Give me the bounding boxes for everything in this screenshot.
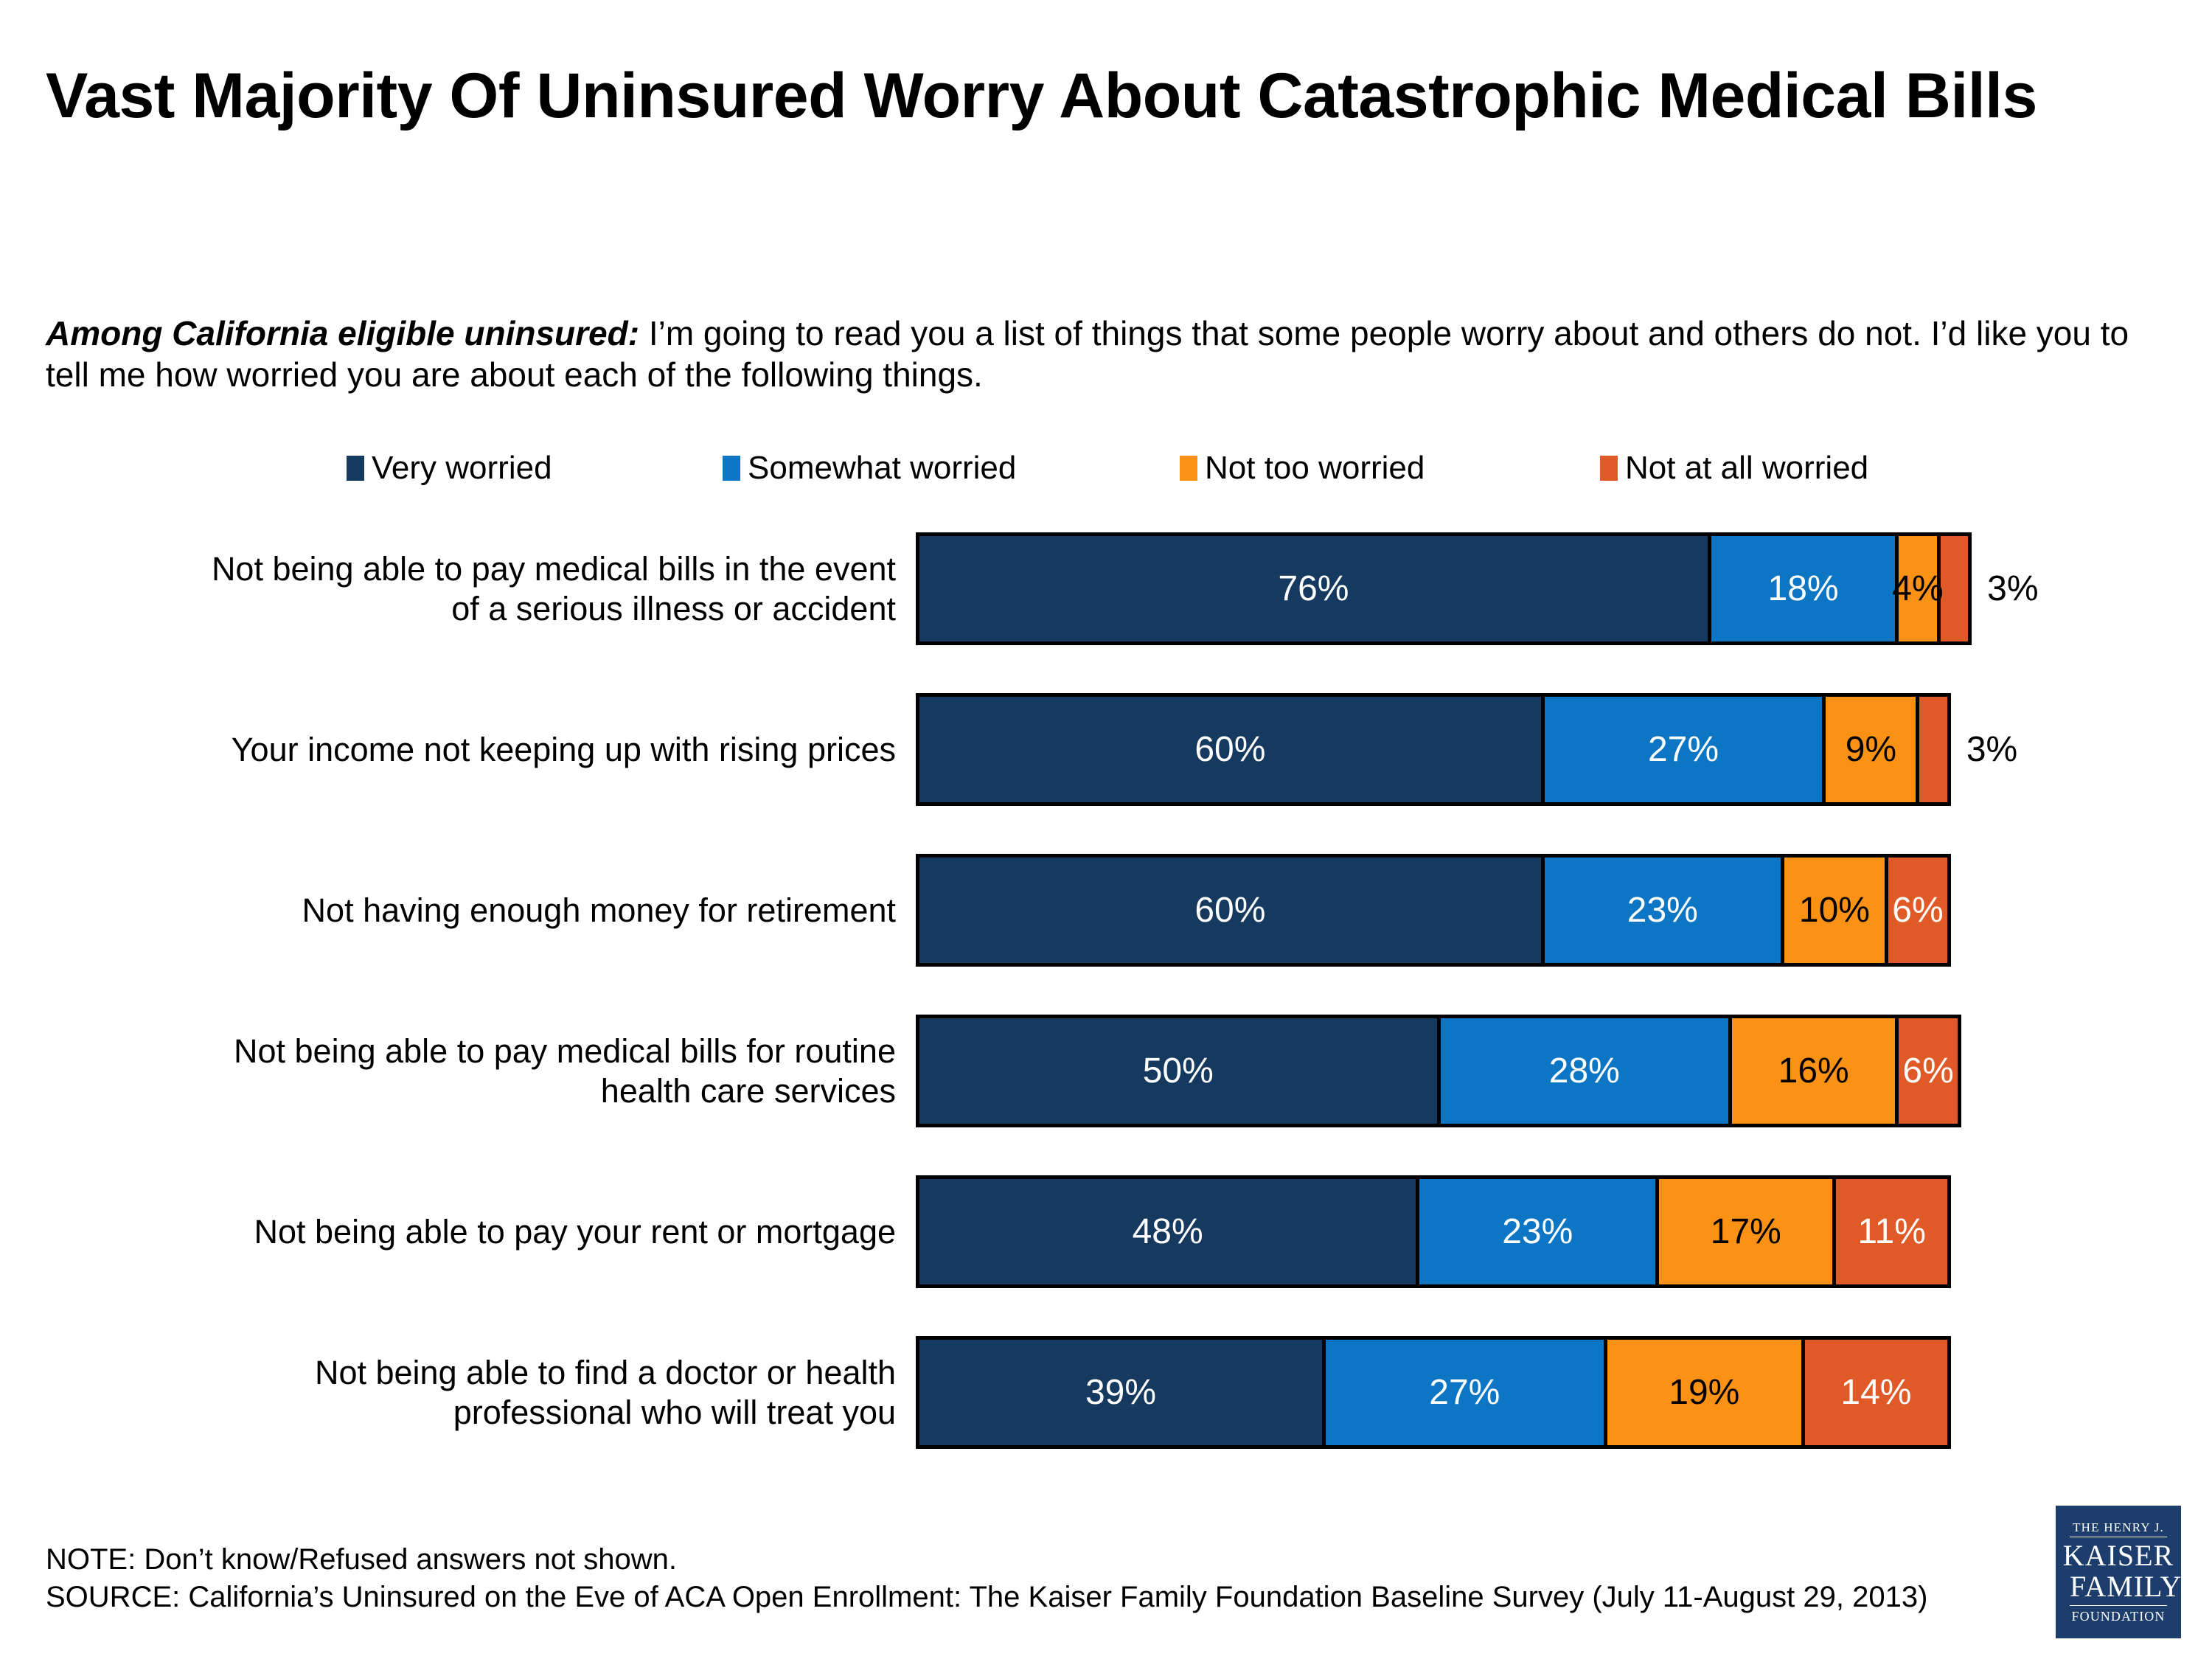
bar-row-label-line: Not being able to pay medical bills in t… (212, 549, 896, 588)
bar-row-label: Your income not keeping up with rising p… (133, 693, 896, 806)
legend-item-not-at-all-worried[interactable]: Not at all worried (1600, 446, 1868, 490)
bar-segment-not-too-worried[interactable]: 9% (1822, 693, 1919, 806)
bar-row-label: Not being able to find a doctor or healt… (133, 1336, 896, 1449)
bar-segment-not-at-all-worried[interactable]: 14% (1801, 1336, 1951, 1449)
bar-row-label: Not having enough money for retirement (133, 854, 896, 967)
bar-row-label-line: Not being able to pay medical bills for … (234, 1032, 896, 1071)
bar-row: Not being able to pay medical bills in t… (0, 532, 2212, 645)
logo-line-2: KAISER (2063, 1540, 2174, 1571)
footnote-note: NOTE: Don’t know/Refused answers not sho… (46, 1541, 2037, 1579)
bar-segment-value: 10% (1799, 893, 1870, 928)
bar-row-label-line: of a serious illness or accident (212, 589, 896, 628)
bar-segment-value: 11% (1857, 1214, 1926, 1250)
legend-item-very-worried[interactable]: Very worried (347, 446, 552, 490)
bar-row: Not being able to pay medical bills for … (0, 1015, 2212, 1127)
bar-segment-very-worried[interactable]: 76% (916, 532, 1711, 645)
bar-segment-value: 18% (1768, 571, 1839, 607)
bar-track: 76%18%4% (916, 532, 1972, 645)
bar-segment-value: 39% (1085, 1375, 1156, 1411)
bar-segment-value: 27% (1648, 732, 1719, 768)
bar-segment-not-at-all-worried[interactable] (1916, 693, 1950, 806)
legend-label: Very worried (372, 452, 552, 484)
bar-segment-not-too-worried[interactable]: 4% (1895, 532, 1941, 645)
bar-track: 48%23%17%11% (916, 1175, 1951, 1288)
bar-row-label-line: Not being able to pay your rent or mortg… (254, 1212, 896, 1251)
stacked-bar-chart: Not being able to pay medical bills in t… (0, 532, 2212, 1506)
footnotes: NOTE: Don’t know/Refused answers not sho… (46, 1541, 2037, 1616)
bar-segment-very-worried[interactable]: 60% (916, 854, 1545, 967)
bar-row: Your income not keeping up with rising p… (0, 693, 2212, 806)
bar-segment-value: 27% (1429, 1375, 1500, 1411)
bar-segment-value: 60% (1194, 893, 1265, 928)
legend-swatch-icon (723, 456, 740, 481)
bar-segment-very-worried[interactable]: 48% (916, 1175, 1419, 1288)
slide-canvas: Vast Majority Of Uninsured Worry About C… (0, 0, 2212, 1659)
chart-legend: Very worried Somewhat worried Not too wo… (347, 446, 1969, 490)
logo-line-1: THE HENRY J. (2070, 1521, 2167, 1537)
bar-segment-value: 9% (1846, 732, 1896, 768)
footnote-source: SOURCE: California’s Uninsured on the Ev… (46, 1579, 2037, 1616)
bar-segment-value: 23% (1502, 1214, 1573, 1250)
legend-item-not-too-worried[interactable]: Not too worried (1180, 446, 1425, 490)
bar-segment-somewhat-worried[interactable]: 23% (1541, 854, 1784, 967)
bar-segment-somewhat-worried[interactable]: 23% (1416, 1175, 1659, 1288)
bar-segment-not-too-worried[interactable]: 10% (1781, 854, 1888, 967)
bar-segment-value: 17% (1711, 1214, 1781, 1250)
bar-segment-value: 50% (1143, 1054, 1214, 1089)
bar-row-label: Not being able to pay your rent or mortg… (133, 1175, 896, 1288)
bar-segment-not-at-all-worried[interactable]: 6% (1895, 1015, 1961, 1127)
bar-segment-value: 14% (1840, 1375, 1911, 1411)
bar-segment-not-too-worried[interactable]: 16% (1728, 1015, 1899, 1127)
bar-track: 50%28%16%6% (916, 1015, 1961, 1127)
bar-row: Not being able to pay your rent or mortg… (0, 1175, 2212, 1288)
bar-segment-value: 76% (1278, 571, 1349, 607)
bar-row-label-line: Not being able to find a doctor or healt… (315, 1353, 896, 1392)
bar-segment-value: 19% (1669, 1375, 1739, 1411)
bar-row-label-line: professional who will treat you (315, 1393, 896, 1432)
bar-segment-somewhat-worried[interactable]: 27% (1541, 693, 1826, 806)
bar-segment-value: 60% (1194, 732, 1265, 768)
bar-row-label-line: Not having enough money for retirement (302, 891, 896, 930)
bar-segment-somewhat-worried[interactable]: 18% (1708, 532, 1899, 645)
bar-row: Not being able to find a doctor or healt… (0, 1336, 2212, 1449)
legend-swatch-icon (1600, 456, 1618, 481)
bar-segment-value: 28% (1549, 1054, 1620, 1089)
bar-segment-very-worried[interactable]: 50% (916, 1015, 1441, 1127)
bar-segment-not-at-all-worried[interactable]: 11% (1832, 1175, 1950, 1288)
subtitle: Among California eligible uninsured: I’m… (46, 313, 2154, 395)
bar-track: 60%27%9% (916, 693, 1951, 806)
bar-segment-value: 4% (1892, 571, 1943, 607)
bar-row-label-line: health care services (234, 1071, 896, 1110)
bar-segment-not-at-all-worried[interactable]: 6% (1885, 854, 1951, 967)
subtitle-lead: Among California eligible uninsured: (46, 314, 639, 352)
page-title: Vast Majority Of Uninsured Worry About C… (46, 63, 2110, 129)
bar-segment-somewhat-worried[interactable]: 27% (1322, 1336, 1607, 1449)
legend-item-somewhat-worried[interactable]: Somewhat worried (723, 446, 1016, 490)
bar-segment-not-too-worried[interactable]: 17% (1655, 1175, 1836, 1288)
legend-swatch-icon (1180, 456, 1197, 481)
bar-segment-very-worried[interactable]: 60% (916, 693, 1545, 806)
bar-row-label: Not being able to pay medical bills for … (133, 1015, 896, 1127)
kaiser-family-foundation-logo: THE HENRY J. KAISER FAMILY FOUNDATION (2056, 1506, 2181, 1638)
bar-outside-value: 3% (1947, 693, 2017, 806)
legend-swatch-icon (347, 456, 364, 481)
logo-line-4: FOUNDATION (2072, 1610, 2166, 1623)
bar-segment-value: 23% (1627, 893, 1698, 928)
bar-outside-value: 3% (1968, 532, 2038, 645)
legend-label: Not too worried (1205, 452, 1425, 484)
bar-segment-value: 16% (1778, 1054, 1849, 1089)
logo-line-3: FAMILY (2070, 1571, 2167, 1606)
bar-row-label-line: Your income not keeping up with rising p… (232, 730, 896, 769)
bar-row: Not having enough money for retirement60… (0, 854, 2212, 967)
bar-segment-somewhat-worried[interactable]: 28% (1437, 1015, 1733, 1127)
bar-segment-very-worried[interactable]: 39% (916, 1336, 1326, 1449)
bar-segment-value: 6% (1902, 1054, 1953, 1089)
bar-segment-value: 6% (1892, 893, 1943, 928)
bar-segment-value: 48% (1133, 1214, 1203, 1250)
bar-track: 60%23%10%6% (916, 854, 1951, 967)
bar-track: 39%27%19%14% (916, 1336, 1951, 1449)
bar-row-label: Not being able to pay medical bills in t… (133, 532, 896, 645)
legend-label: Not at all worried (1625, 452, 1868, 484)
bar-segment-not-too-worried[interactable]: 19% (1604, 1336, 1805, 1449)
legend-label: Somewhat worried (748, 452, 1016, 484)
